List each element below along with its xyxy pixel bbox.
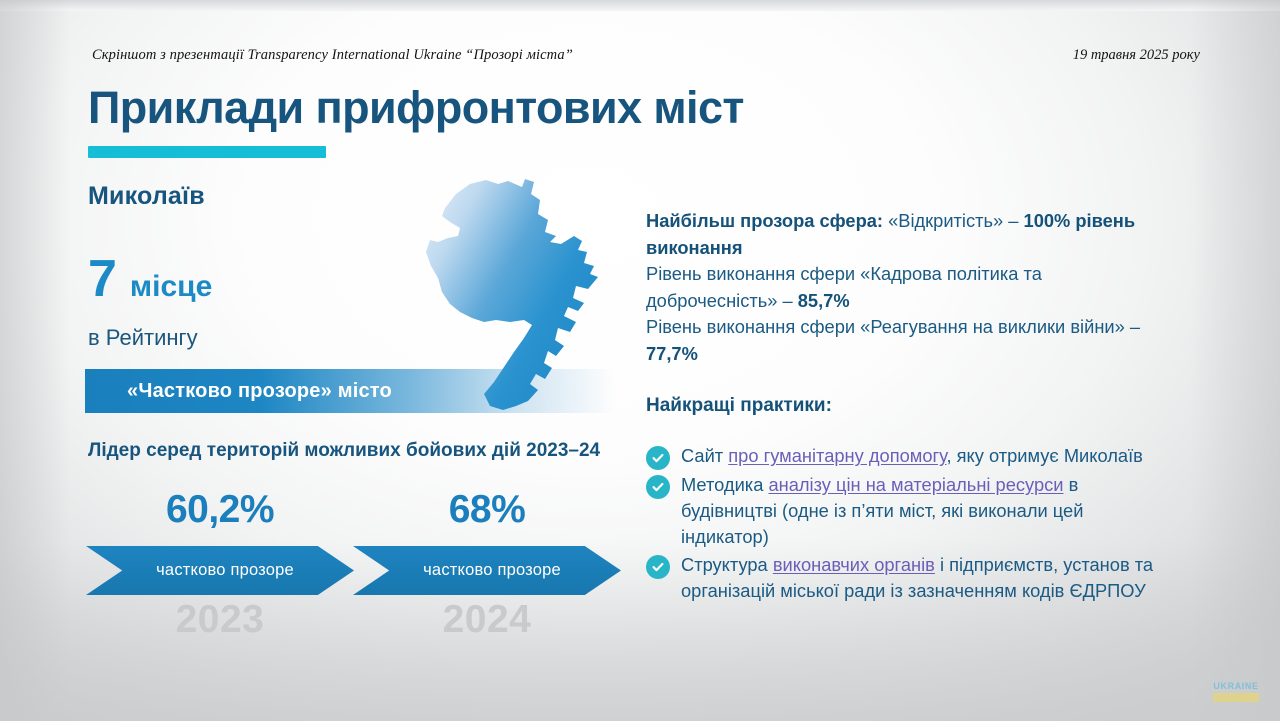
rank-block: 7 місце (88, 253, 212, 305)
stat-year-2024: 2024 (353, 599, 621, 642)
left-vignette (0, 0, 70, 721)
stat-card-2023: 60,2% частково прозоре 2023 (86, 490, 354, 642)
practice-text: Методика аналізу цін на матеріальні ресу… (681, 472, 1166, 550)
practice-1-link[interactable]: про гуманітарну допомогу (728, 445, 946, 466)
ukraine-watermark-logo: UKRAINE (1210, 677, 1262, 707)
check-circle-icon (646, 446, 670, 470)
right-vignette (1190, 0, 1280, 721)
stat-card-2024: 68% частково прозоре 2024 (353, 490, 621, 642)
stat-percent-2023: 60,2% (86, 490, 354, 534)
practice-3-link[interactable]: виконавчих органів (773, 554, 935, 575)
practice-3-pre: Структура (681, 554, 773, 575)
rank-subtitle: в Рейтингу (88, 325, 198, 351)
title-underline-rule (88, 146, 326, 158)
rank-word: місце (130, 272, 212, 302)
page-title: Приклади прифронтових міст (88, 82, 744, 134)
stat-status-label-2023: частково прозоре (146, 561, 294, 580)
list-item: Сайт про гуманітарну допомогу, яку отрим… (646, 443, 1166, 470)
spheres-text: Найбільш прозора сфера: «Відкритість» – … (646, 208, 1158, 367)
leader-line: Лідер серед територій можливих бойових д… (88, 440, 600, 462)
sphere-1-mid: «Відкритість» – (883, 210, 1024, 231)
list-item: Методика аналізу цін на матеріальні ресу… (646, 472, 1166, 550)
check-circle-icon (646, 475, 670, 499)
stat-status-label-2024: частково прозоре (413, 561, 561, 580)
slide-canvas: Скріншот з презентації Transparency Inte… (0, 0, 1280, 721)
practice-2-pre: Методика (681, 474, 768, 495)
sphere-3-label: Рівень виконання сфери «Реагування на ви… (646, 316, 1140, 337)
sphere-3-value: 77,7% (646, 343, 698, 364)
list-item: Структура виконавчих органів і підприємс… (646, 552, 1166, 604)
date-label: 19 травня 2025 року (1073, 47, 1200, 64)
source-note: Скріншот з презентації Transparency Inte… (92, 47, 573, 64)
stat-year-2023: 2023 (86, 599, 354, 642)
stat-chevron-2024: частково прозоре (353, 546, 621, 595)
watermark-bar (1213, 693, 1259, 702)
watermark-text: UKRAINE (1213, 682, 1258, 691)
top-band (0, 0, 1280, 11)
best-practices-heading: Найкращі практики: (646, 395, 832, 417)
status-badge-label: «Частково прозоре» місто (127, 380, 392, 403)
best-practices-list: Сайт про гуманітарну допомогу, яку отрим… (646, 443, 1166, 604)
practice-1-pre: Сайт (681, 445, 728, 466)
sphere-1-label: Найбільш прозора сфера: (646, 210, 883, 231)
practice-1-post: , яку отримує Миколаїв (947, 445, 1143, 466)
sphere-1-value: 100% (1024, 210, 1071, 231)
practice-text: Структура виконавчих органів і підприємс… (681, 552, 1166, 604)
sphere-2-value: 85,7% (798, 290, 850, 311)
practice-text: Сайт про гуманітарну допомогу, яку отрим… (681, 443, 1143, 469)
stat-percent-2024: 68% (353, 490, 621, 534)
city-name: Миколаїв (88, 182, 205, 211)
stat-chevron-2023: частково прозоре (86, 546, 354, 595)
practice-2-link[interactable]: аналізу цін на матеріальні ресурси (768, 474, 1063, 495)
rank-number: 7 (88, 253, 117, 305)
check-circle-icon (646, 555, 670, 579)
spheres-block: Найбільш прозора сфера: «Відкритість» – … (646, 208, 1158, 367)
mykolaiv-oblast-map-icon (398, 170, 628, 418)
